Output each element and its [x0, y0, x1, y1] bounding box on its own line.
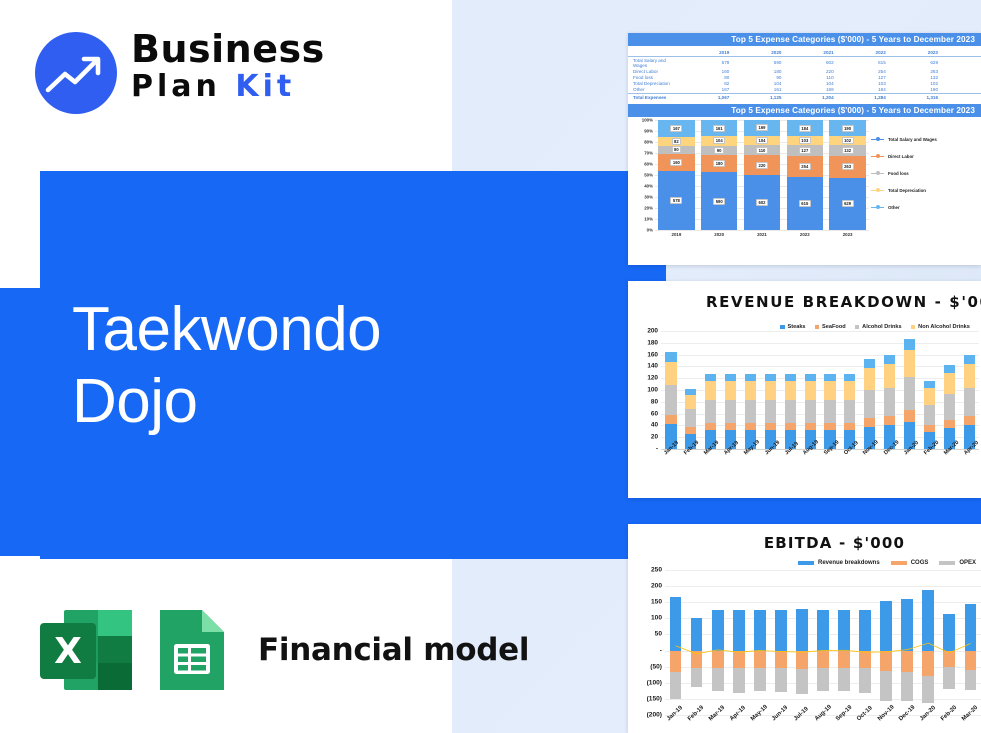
bar-segment: 103: [787, 136, 823, 145]
bar-segment: [844, 400, 855, 423]
expense-total-cell: 1,125: [732, 93, 784, 100]
expense-table-title: Top 5 Expense Categories ($'000) - 5 Yea…: [628, 33, 981, 46]
bar-segment: 190: [829, 120, 865, 136]
bar-slot[interactable]: [681, 331, 701, 449]
expense-row-label: Total Salary and Wages: [628, 57, 680, 69]
gridline: [655, 230, 869, 231]
expense-col-spacer: [941, 49, 981, 57]
expense-cell: 169: [784, 87, 836, 94]
legend-swatch: [891, 561, 907, 566]
axis-tick: -: [660, 647, 662, 654]
expense-row-label: Other: [628, 87, 680, 94]
bar-value-label: 629: [842, 200, 854, 207]
legend-label: Revenue breakdowns: [818, 560, 880, 566]
bar-slot[interactable]: [661, 331, 681, 449]
stacked-bar: [805, 374, 816, 449]
legend-label: Total Salary and Wages: [888, 137, 937, 142]
legend-swatch: [871, 190, 884, 191]
expense-cell: 190: [889, 87, 941, 94]
legend-label: OPEX: [959, 560, 976, 566]
bar-slot[interactable]: [880, 331, 900, 449]
expense-categories-card[interactable]: Top 5 Expense Categories ($'000) - 5 Yea…: [628, 33, 981, 265]
bar-segment: [924, 388, 935, 406]
bar-segment: 615: [787, 177, 823, 230]
expense-cell: 161: [732, 87, 784, 94]
axis-tick: 2023: [829, 232, 865, 237]
expense-total-cell: 1,204: [784, 93, 836, 100]
bar-segment: [904, 339, 915, 350]
bar-segment: [725, 400, 736, 423]
axis-tick: 50: [655, 631, 662, 638]
bar-value-label: 102: [842, 137, 854, 144]
bar-value-label: 184: [799, 125, 811, 132]
axis-tick: 160: [647, 351, 658, 358]
axis-tick: 180: [647, 339, 658, 346]
axis-tick: 30%: [644, 195, 653, 200]
expense-chart-title: Top 5 Expense Categories ($'000) - 5 Yea…: [628, 104, 981, 117]
bar-segment: [904, 410, 915, 422]
bar-segment: 184: [787, 120, 823, 136]
bar-value-label: 602: [756, 199, 768, 206]
page-title: Taekwondo Dojo: [72, 294, 632, 438]
bar-value-label: 254: [799, 163, 811, 170]
bar-segment: [964, 416, 975, 425]
revenue-chart-y-axis: -20406080100120140160180200: [632, 331, 658, 449]
revenue-chart-title: REVENUE BREAKDOWN - $'000: [706, 281, 981, 311]
revenue-chart-legend[interactable]: SteaksSeaFoodAlcohol DrinksNon Alcohol D…: [780, 324, 970, 330]
stacked-bar: [884, 355, 895, 449]
bar-value-label: 90: [714, 147, 724, 154]
expense-total-cell: 1,284: [837, 93, 889, 100]
bar-segment: [884, 364, 895, 388]
ebitda-chart-x-axis: Jan-19Feb-19Mar-19Apr-19May-19Jun-19Jul-…: [665, 718, 981, 724]
ebitda-chart-area: (200)(150)(100)(50)-50100150200250 Jan-1…: [628, 570, 981, 733]
stacked-bar: [765, 374, 776, 449]
bar-segment: [745, 374, 756, 381]
axis-tick: 140: [647, 363, 658, 370]
axis-tick: (100): [647, 679, 662, 686]
bar-segment: [725, 423, 736, 430]
bar-segment: [765, 400, 776, 423]
bar-value-label: 167: [670, 125, 682, 132]
stacked-bar: [964, 355, 975, 449]
bar-segment: [805, 381, 816, 400]
legend-swatch: [871, 173, 884, 174]
table-row: Total Salary and Wages 578 590 602 615 6…: [628, 57, 981, 69]
axis-tick: 60%: [644, 162, 653, 167]
bar-segment: [824, 381, 835, 400]
legend-swatch: [871, 207, 884, 208]
expense-stacked-chart[interactable]: 0%10%20%30%40%50%60%70%80%90%100% 167828…: [628, 117, 981, 248]
bar-segment: 590: [701, 172, 737, 230]
expense-cell: 184: [837, 87, 889, 94]
legend-label: Non Alcohol Drinks: [918, 324, 970, 330]
legend-item[interactable]: OPEX: [939, 560, 976, 566]
bar-segment: [785, 381, 796, 400]
bar-segment: 161: [701, 120, 737, 136]
bar-segment: [944, 394, 955, 419]
brand-logo-text: Business Plan Kit: [131, 29, 325, 105]
stacked-bar[interactable]: 1678280160578: [658, 120, 694, 230]
axis-tick: 50%: [644, 173, 653, 178]
bar-value-label: 590: [713, 198, 725, 205]
bar-segment: [864, 368, 875, 390]
stacked-bar: [864, 359, 875, 449]
bar-value-label: 110: [756, 147, 768, 154]
ebitda-chart-legend[interactable]: Revenue breakdownsCOGSOPEX: [798, 560, 976, 566]
bar-segment: [665, 415, 676, 424]
bar-segment: 263: [829, 156, 865, 178]
axis-tick: 100%: [642, 118, 653, 123]
legend-label: Total Depreciation: [888, 188, 926, 193]
expense-table-header-row: 2019 2020 2021 2022 2023: [628, 49, 981, 57]
brand-logo[interactable]: Business Plan Kit: [35, 31, 335, 116]
bar-segment: 602: [744, 175, 780, 230]
axis-tick: 100: [647, 387, 658, 394]
bar-value-label: 132: [842, 147, 854, 154]
legend-swatch: [911, 325, 916, 330]
axis-tick: 120: [647, 375, 658, 382]
bar-slot[interactable]: [900, 331, 920, 449]
ebitda-chart-plot: [665, 570, 981, 715]
axis-tick: 200: [651, 583, 662, 590]
stacked-bar: [785, 374, 796, 449]
axis-tick: 0%: [647, 228, 653, 233]
revenue-chart-plot: [661, 331, 979, 450]
bar-value-label: 127: [799, 147, 811, 154]
bar-value-label: 220: [756, 162, 768, 169]
expense-col-2020: 2020: [732, 49, 784, 57]
revenue-breakdown-card[interactable]: REVENUE BREAKDOWN - $'000 SteaksSeaFoodA…: [628, 281, 981, 498]
legend-swatch: [855, 325, 860, 330]
bar-value-label: 103: [799, 137, 811, 144]
legend-label: Alcohol Drinks: [862, 324, 901, 330]
axis-tick: (150): [647, 695, 662, 702]
bar-segment: [805, 374, 816, 381]
stacked-bar: [844, 374, 855, 449]
bar-slot[interactable]: [780, 331, 800, 449]
expense-col-2023: 2023: [889, 49, 941, 57]
bar-segment: [944, 420, 955, 429]
expense-cell: 167: [680, 87, 732, 94]
stacked-bar: [824, 374, 835, 449]
stacked-bar[interactable]: 184103127254615: [787, 120, 823, 230]
bar-slot[interactable]: [721, 331, 741, 449]
bar-segment: [904, 350, 915, 377]
bar-segment: [765, 423, 776, 430]
bar-segment: [824, 374, 835, 381]
ebitda-line-series: [665, 570, 981, 715]
table-row: Other 167 161 169 184 190: [628, 87, 981, 94]
expense-chart-legend[interactable]: Total Salary and WagesDirect LaborFood l…: [871, 131, 977, 216]
legend-label: Food loss: [888, 171, 909, 176]
bar-segment: [964, 388, 975, 416]
expense-total-label: Total Expenses: [628, 93, 680, 100]
legend-item[interactable]: SeaFood: [815, 324, 846, 330]
bar-segment: 578: [658, 171, 694, 231]
revenue-chart-area: -20406080100120140160180200 Jan-19Feb-19…: [628, 331, 981, 498]
axis-tick: 20%: [644, 206, 653, 211]
ebitda-chart-y-axis: (200)(150)(100)(50)-50100150200250: [630, 570, 662, 715]
legend-swatch: [871, 156, 884, 157]
bar-segment: [665, 362, 676, 386]
brand-logo-line2-accent: Kit: [235, 69, 295, 104]
footer-label: Financial model: [258, 632, 529, 668]
axis-tick: 2020: [701, 232, 737, 237]
bar-segment: [705, 423, 716, 430]
bar-segment: 132: [829, 145, 865, 156]
page-title-line2: Dojo: [72, 366, 632, 438]
legend-item[interactable]: Revenue breakdowns: [798, 560, 880, 566]
bar-segment: [745, 400, 756, 423]
bar-segment: [964, 364, 975, 388]
bar-value-label: 190: [842, 125, 854, 132]
legend-swatch: [939, 561, 955, 566]
axis-tick: (200): [647, 712, 662, 719]
stacked-bar: [745, 374, 756, 449]
growth-arrow-circle-icon: [35, 32, 117, 114]
axis-tick: (50): [650, 663, 662, 670]
expense-chart-y-axis: 0%10%20%30%40%50%60%70%80%90%100%: [631, 120, 653, 230]
footer-format-row: X Financial model: [38, 604, 529, 696]
legend-item[interactable]: COGS: [891, 560, 929, 566]
axis-tick: -: [656, 446, 658, 453]
stacked-bar: [944, 365, 955, 449]
bar-segment: [805, 400, 816, 423]
bar-slot[interactable]: [860, 331, 880, 449]
legend-label: COGS: [911, 560, 929, 566]
legend-item[interactable]: Steaks: [780, 324, 806, 330]
legend-item[interactable]: Alcohol Drinks: [855, 324, 902, 330]
legend-swatch: [871, 139, 884, 140]
bar-slot[interactable]: [820, 331, 840, 449]
bar-segment: 160: [658, 154, 694, 171]
bar-segment: 104: [744, 136, 780, 146]
stacked-bar[interactable]: 169104110220602: [744, 120, 780, 230]
legend-swatch: [780, 325, 785, 330]
bar-slot[interactable]: [760, 331, 780, 449]
legend-swatch: [798, 561, 814, 566]
bar-slot[interactable]: [840, 331, 860, 449]
bar-slot[interactable]: [939, 331, 959, 449]
legend-item[interactable]: Total Salary and Wages: [871, 131, 977, 148]
bar-segment: 90: [701, 146, 737, 155]
axis-tick: 250: [651, 567, 662, 574]
axis-tick: 60: [651, 410, 658, 417]
stacked-bar: [924, 381, 935, 449]
bar-segment: 180: [701, 155, 737, 173]
microsoft-excel-icon: X: [38, 606, 134, 694]
ebitda-chart-title: EBITDA - $'000: [688, 524, 981, 552]
ebitda-card[interactable]: EBITDA - $'000 Revenue breakdownsCOGSOPE…: [628, 524, 981, 733]
bar-value-label: 161: [713, 125, 725, 132]
expense-cell: 590: [732, 57, 784, 69]
axis-tick: 40%: [644, 184, 653, 189]
slide-canvas: Business Plan Kit Taekwondo Dojo X: [0, 0, 981, 733]
bar-segment: [884, 388, 895, 416]
legend-label: Steaks: [788, 324, 806, 330]
expense-col-2021: 2021: [784, 49, 836, 57]
legend-item[interactable]: Direct Labor: [871, 148, 977, 165]
bar-segment: 254: [787, 156, 823, 178]
bar-segment: [944, 373, 955, 394]
bar-slot[interactable]: [959, 331, 979, 449]
bar-segment: [765, 381, 776, 400]
bar-segment: [884, 355, 895, 364]
bar-slot[interactable]: [800, 331, 820, 449]
bar-segment: [745, 423, 756, 430]
bar-segment: [944, 365, 955, 373]
expense-cell: 615: [837, 57, 889, 69]
bar-segment: [884, 416, 895, 425]
bar-value-label: 615: [799, 200, 811, 207]
bar-segment: [844, 381, 855, 400]
bar-value-label: 180: [713, 160, 725, 167]
expense-chart-plot: 1678280160578161104901805901691041102206…: [655, 120, 869, 230]
svg-text:X: X: [54, 631, 82, 672]
bar-segment: [864, 359, 875, 368]
bar-slot[interactable]: [919, 331, 939, 449]
legend-item[interactable]: Other: [871, 199, 977, 216]
legend-swatch: [815, 325, 820, 330]
axis-tick: 2022: [787, 232, 823, 237]
bar-value-label: 104: [756, 137, 768, 144]
bar-segment: [864, 418, 875, 427]
bar-segment: [665, 385, 676, 415]
revenue-chart-x-axis: Jan-19Feb-19Mar-19Apr-19May-19Jun-19Jul-…: [661, 452, 979, 458]
expense-total-cell: 1,316: [889, 93, 941, 100]
stacked-bar: [904, 339, 915, 449]
bar-segment: [844, 423, 855, 430]
google-sheets-icon: [156, 606, 234, 694]
axis-tick: 10%: [644, 217, 653, 222]
bar-segment: 80: [658, 146, 694, 154]
bar-slot[interactable]: [701, 331, 721, 449]
bar-segment: [864, 390, 875, 418]
axis-tick: 70%: [644, 151, 653, 156]
expense-cell: 602: [784, 57, 836, 69]
bar-slot[interactable]: [741, 331, 761, 449]
bar-value-label: 160: [670, 159, 682, 166]
expense-cell: 578: [680, 57, 732, 69]
bar-segment: [805, 423, 816, 430]
bar-segment: 82: [658, 137, 694, 145]
legend-item[interactable]: Non Alcohol Drinks: [911, 324, 970, 330]
bar-segment: [705, 381, 716, 400]
legend-item[interactable]: Food loss: [871, 165, 977, 182]
legend-label: SeaFood: [822, 324, 846, 330]
page-title-line1: Taekwondo: [72, 294, 632, 366]
axis-tick: 20: [651, 434, 658, 441]
bar-segment: [824, 400, 835, 423]
brand-logo-line1: Business: [131, 29, 325, 69]
bar-segment: [765, 374, 776, 381]
bar-segment: [844, 374, 855, 381]
bar-segment: [685, 427, 696, 434]
bar-segment: 220: [744, 155, 780, 175]
bar-segment: [785, 423, 796, 430]
bar-segment: [824, 423, 835, 430]
axis-tick: 2019: [658, 232, 694, 237]
table-row-total: Total Expenses 1,067 1,125 1,204 1,284 1…: [628, 93, 981, 100]
stacked-bar[interactable]: 190102132263629: [829, 120, 865, 230]
axis-tick: 80%: [644, 140, 653, 145]
bar-segment: 629: [829, 178, 865, 231]
expense-col-2022: 2022: [837, 49, 889, 57]
bar-segment: [665, 352, 676, 362]
bar-segment: 102: [829, 136, 865, 145]
legend-item[interactable]: Total Depreciation: [871, 182, 977, 199]
bar-segment: 110: [744, 145, 780, 155]
bar-value-label: 104: [713, 137, 725, 144]
bar-segment: [705, 400, 716, 423]
expense-cell: 629: [889, 57, 941, 69]
bar-segment: 127: [787, 145, 823, 156]
bar-segment: [685, 395, 696, 410]
expense-total-cell: 1,067: [680, 93, 732, 100]
bar-segment: 104: [701, 136, 737, 146]
bar-segment: [924, 405, 935, 425]
bar-value-label: 263: [842, 163, 854, 170]
legend-label: Direct Labor: [888, 154, 914, 159]
axis-tick: 80: [651, 398, 658, 405]
axis-tick: 100: [651, 615, 662, 622]
brand-logo-line2-plain: Plan: [131, 69, 235, 104]
bar-value-label: 169: [756, 124, 768, 131]
bar-segment: [685, 409, 696, 426]
bar-segment: [725, 374, 736, 381]
stacked-bar: [725, 374, 736, 449]
expense-col-2019: 2019: [680, 49, 732, 57]
bar-value-label: 80: [672, 146, 682, 153]
axis-tick: 40: [651, 422, 658, 429]
bar-segment: [725, 381, 736, 400]
bar-value-label: 578: [670, 197, 682, 204]
bar-segment: [904, 377, 915, 410]
axis-tick: 200: [647, 328, 658, 335]
bar-segment: [745, 381, 756, 400]
axis-tick: 2021: [744, 232, 780, 237]
bar-segment: [785, 400, 796, 423]
expense-chart-x-axis: 20192020202120222023: [655, 232, 869, 237]
expense-table: 2019 2020 2021 2022 2023 Total Salary an…: [628, 49, 981, 100]
axis-tick: 90%: [644, 129, 653, 134]
bar-segment: 169: [744, 120, 780, 135]
bar-segment: [705, 374, 716, 381]
bar-segment: [964, 355, 975, 364]
bar-segment: [785, 374, 796, 381]
axis-tick: 150: [651, 599, 662, 606]
bar-segment: 167: [658, 120, 694, 137]
expense-col-0: [628, 49, 680, 57]
stacked-bar: [665, 352, 676, 449]
bar-value-label: 82: [672, 138, 682, 145]
stacked-bar: [705, 374, 716, 449]
legend-label: Other: [888, 205, 900, 210]
stacked-bar[interactable]: 16110490180590: [701, 120, 737, 230]
brand-logo-line2: Plan Kit: [131, 69, 325, 105]
